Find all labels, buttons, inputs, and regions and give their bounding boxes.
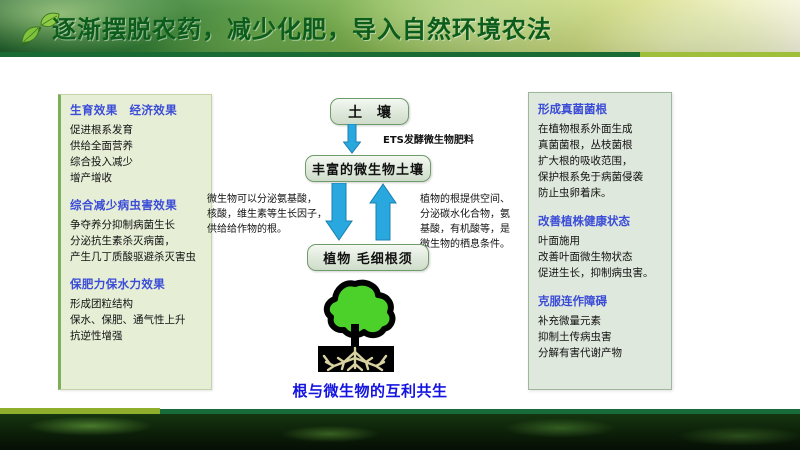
benefit-group-heading: 综合减少病虫害效果	[70, 197, 205, 213]
plant-contribution-line: 基酸，有机酸等，是	[420, 222, 510, 237]
benefit-line: 形成团粒结构	[70, 296, 205, 312]
benefit-line: 补充微量元素	[538, 313, 665, 329]
arrow-down-icon	[325, 183, 353, 241]
benefit-group-plant-health: 改善植株健康状态 叶面施用 改善叶面微生物状态 促进生长，抑制病虫害。	[538, 213, 665, 281]
benefit-line: 在植物根系外面生成	[538, 121, 665, 137]
symbiosis-caption: 根与微生物的互利共生	[260, 380, 480, 401]
header-rule-accent	[640, 52, 800, 57]
arrow-down-icon	[343, 124, 361, 154]
benefit-line: 增产增收	[70, 170, 205, 186]
benefit-group-pest-reduction: 综合减少病虫害效果 争夺养分抑制病菌生长 分泌抗生素杀灭病菌， 产生几丁质酸驱避…	[70, 197, 205, 265]
ets-fertilizer-label: ETS发酵微生物肥料	[383, 131, 474, 146]
plant-contribution-line: 微生物的栖息条件。	[420, 237, 510, 252]
microbe-contribution-line: 微生物可以分泌氨基酸，	[207, 192, 327, 207]
benefit-line: 扩大根的吸收范围，	[538, 153, 665, 169]
slide-header: 逐渐摆脱农药，减少化肥，导入自然环境农法	[0, 0, 800, 57]
benefit-group-heading: 生育效果 经济效果	[70, 102, 205, 118]
microbe-contribution-line: 供给给作物的根。	[207, 222, 327, 237]
benefit-group-growth: 生育效果 经济效果 促进根系发育 供给全面营养 综合投入减少 增产增收	[70, 102, 205, 186]
benefit-line: 促进生长，抑制病虫害。	[538, 265, 665, 281]
benefit-group-mycorrhiza: 形成真菌菌根 在植物根系外面生成 真菌菌根，丛枝菌根 扩大根的吸收范围， 保护根…	[538, 101, 665, 201]
benefit-line: 抗逆性增强	[70, 328, 205, 344]
flow-node-rich-soil: 丰富的微生物土壤	[305, 155, 431, 182]
header-rule	[0, 52, 640, 57]
flow-node-soil: 土 壤	[330, 98, 409, 125]
plant-contribution-line: 分泌碳水化合物，氨	[420, 207, 510, 222]
benefit-line: 抑制土传病虫害	[538, 329, 665, 345]
benefit-line: 保护根系免于病菌侵袭	[538, 169, 665, 185]
tree-with-roots-icon	[300, 278, 410, 374]
benefit-line: 争夺养分抑制病菌生长	[70, 217, 205, 233]
benefit-group-heading: 改善植株健康状态	[538, 213, 665, 229]
flow-node-plant-root: 植物 毛细根须	[307, 244, 429, 271]
benefit-line: 分泌抗生素杀灭病菌，	[70, 233, 205, 249]
benefit-line: 叶面施用	[538, 233, 665, 249]
benefit-group-continuous-cropping: 克服连作障碍 补充微量元素 抑制土传病虫害 分解有害代谢产物	[538, 293, 665, 361]
benefit-line: 分解有害代谢产物	[538, 345, 665, 361]
benefit-line: 产生几丁质酸驱避杀灭害虫	[70, 249, 205, 265]
microbe-contribution-line: 核酸，维生素等生长因子，	[207, 207, 327, 222]
benefits-right-panel: 形成真菌菌根 在植物根系外面生成 真菌菌根，丛枝菌根 扩大根的吸收范围， 保护根…	[528, 92, 672, 390]
footer-bar-accent	[0, 408, 160, 414]
benefit-line: 促进根系发育	[70, 122, 205, 138]
benefit-line: 真菌菌根，丛枝菌根	[538, 137, 665, 153]
benefits-left-panel: 生育效果 经济效果 促进根系发育 供给全面营养 综合投入减少 增产增收 综合减少…	[58, 94, 212, 390]
plant-contribution-line: 植物的根提供空间、	[420, 192, 510, 207]
page-title: 逐渐摆脱农药，减少化肥，导入自然环境农法	[52, 10, 552, 45]
benefit-line: 供给全面营养	[70, 138, 205, 154]
benefit-group-heading: 形成真菌菌根	[538, 101, 665, 117]
benefit-group-heading: 保肥力保水力效果	[70, 276, 205, 292]
benefit-line: 保水、保肥、通气性上升	[70, 312, 205, 328]
slide: 逐渐摆脱农药，减少化肥，导入自然环境农法 生育效果 经济效果 促进根系发育 供给…	[0, 0, 800, 450]
plant-contribution-text: 植物的根提供空间、 分泌碳水化合物，氨 基酸，有机酸等，是 微生物的栖息条件。	[420, 192, 510, 252]
benefit-line: 防止虫卵着床。	[538, 185, 665, 201]
benefit-line: 综合投入减少	[70, 154, 205, 170]
benefit-line: 改善叶面微生物状态	[538, 249, 665, 265]
slide-footer	[0, 406, 800, 450]
arrow-up-icon	[369, 183, 397, 241]
microbe-contribution-text: 微生物可以分泌氨基酸， 核酸，维生素等生长因子， 供给给作物的根。	[207, 192, 327, 237]
footer-background-photo	[0, 414, 800, 450]
benefit-group-heading: 克服连作障碍	[538, 293, 665, 309]
benefit-group-fertility-retention: 保肥力保水力效果 形成团粒结构 保水、保肥、通气性上升 抗逆性增强	[70, 276, 205, 344]
